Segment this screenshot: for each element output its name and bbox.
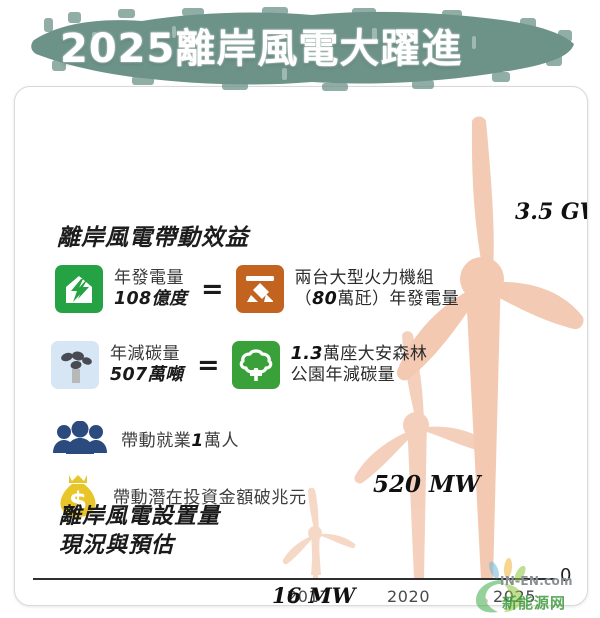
chart-title-line-1: 離岸風電設置量 [59,502,220,531]
data-label-2020: 520 MW [373,471,480,498]
jobs-number: 1 [191,431,203,451]
carbon-value: 507萬噸 [110,365,183,386]
page-title: 2025離岸風電大躍進 [60,16,462,74]
tree-icon [232,341,280,389]
benefit-row-generation: 年發電量 108億度 = 兩台大型火力機組 （80萬瓩）年發電量 [55,265,459,313]
content-card: 離岸風電帶動效益 年發電量 108億度 = [14,86,588,606]
generation-label: 年發電量 [114,268,187,289]
generation-text: 年發電量 108億度 [114,268,187,310]
benefits-section-heading: 離岸風電帶動效益 [57,218,249,252]
power-house-icon [55,265,103,313]
watermark-text-cn: 新能源网 [502,592,566,613]
carbon-label: 年減碳量 [110,344,183,365]
x-tick-2020: 2020 [387,587,430,606]
chart-title: 離岸風電設置量 現況與預估 [59,502,220,560]
carbon-equivalent-text: 1.3萬座大安森林 公園年減碳量 [291,344,428,386]
chart-title-line-2: 現況與預估 [59,531,220,560]
power-plant-icon [236,265,284,313]
jobs-text: 帶動就業1萬人 [121,426,239,451]
data-label-2017: 16 MW [272,583,355,606]
equiv-number: 80 [312,289,337,309]
data-label-2025: 3.5 GW [515,199,588,225]
carbon-equiv-line-1: 1.3萬座大安森林 [291,344,428,365]
carbon-equiv-rest: 萬座大安森林 [323,344,427,364]
equiv-line-1: 兩台大型火力機組 [295,268,459,289]
equals-sign-2: = [197,352,220,379]
generation-value: 108億度 [114,289,187,310]
jobs-text-post: 萬人 [204,431,239,451]
equiv-rest: 萬瓩）年發電量 [337,289,459,309]
jobs-text-pre: 帶動就業 [121,431,191,451]
equals-sign-1: = [201,276,224,303]
infographic-root: 離岸風電帶動效益 年發電量 108億度 = [0,0,600,618]
smokestack-icon [51,341,99,389]
benefit-row-jobs: 帶動就業1萬人 [51,421,239,455]
benefit-row-carbon: 年減碳量 507萬噸 = 1.3萬座大安森林 公園年減碳量 [51,341,427,389]
equiv-line-2: （80萬瓩）年發電量 [295,289,459,310]
carbon-equiv-line-2: 公園年減碳量 [291,365,428,386]
carbon-equiv-number: 1.3 [291,344,323,364]
people-icon [51,421,109,455]
carbon-text: 年減碳量 507萬噸 [110,344,183,386]
x-axis-line [33,578,555,580]
generation-equivalent-text: 兩台大型火力機組 （80萬瓩）年發電量 [295,268,459,310]
watermark-text: IN-EN.com [500,574,573,588]
equiv-paren-open: （ [295,289,312,309]
